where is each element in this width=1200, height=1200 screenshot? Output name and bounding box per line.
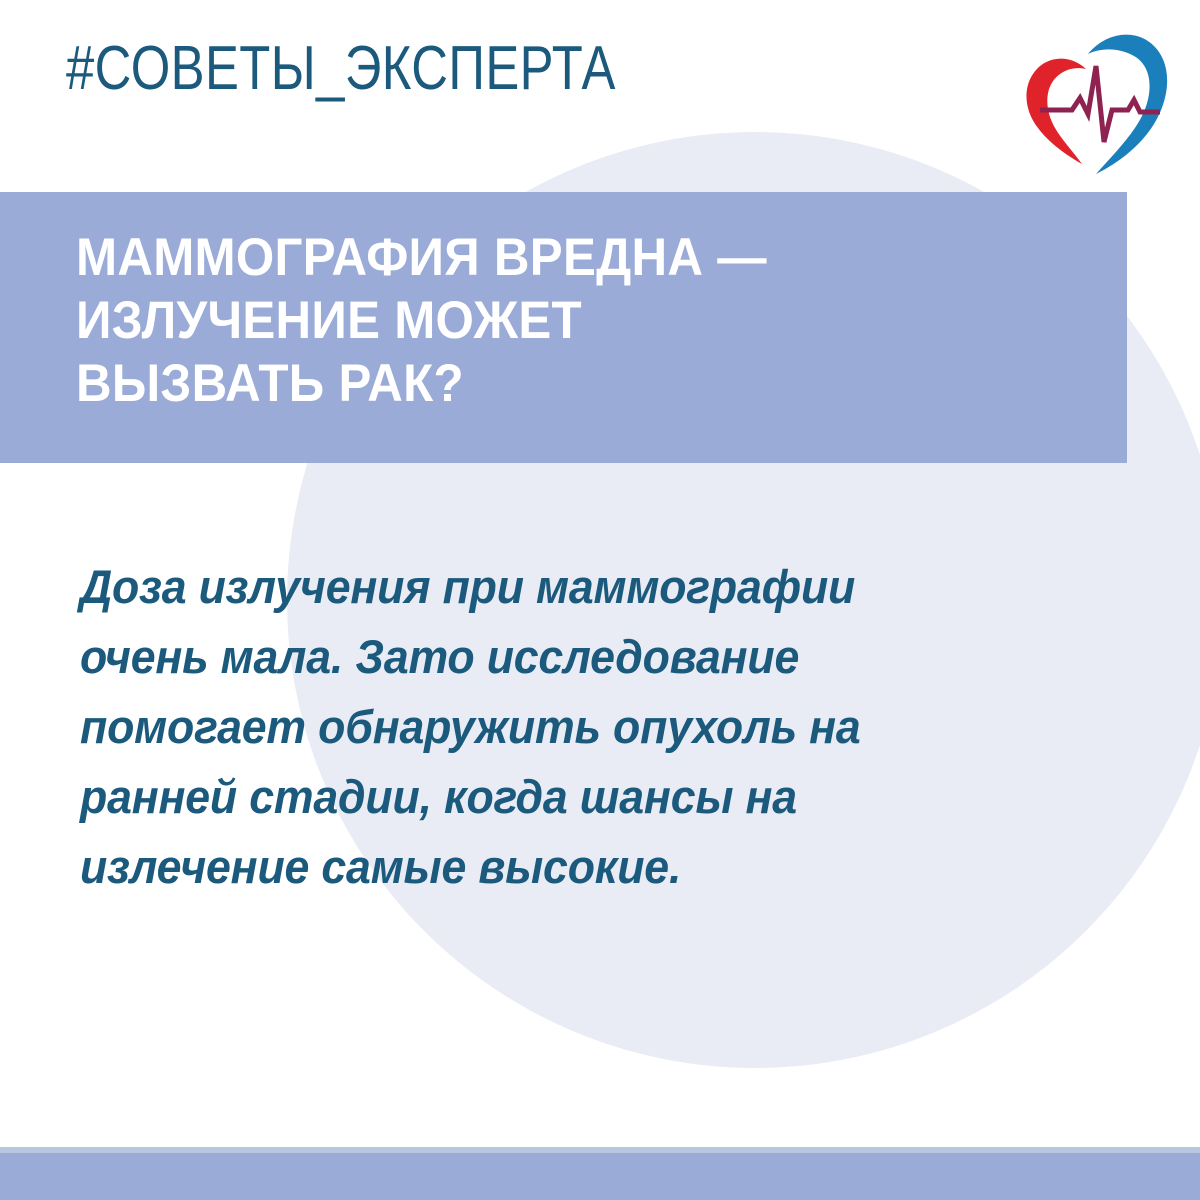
heart-ecg-logo [1010, 14, 1182, 179]
hashtag-label: #СОВЕТЫ_ЭКСПЕРТА [66, 36, 616, 101]
footer-bar [0, 1153, 1200, 1200]
slide-canvas: #СОВЕТЫ_ЭКСПЕРТА МАММОГРАФИЯ ВРЕДНА — ИЗ… [0, 0, 1200, 1200]
title-banner: МАММОГРАФИЯ ВРЕДНА — ИЗЛУЧЕНИЕ МОЖЕТ ВЫЗ… [0, 192, 1127, 463]
body-paragraph: Доза излучения при маммографии очень мал… [80, 552, 992, 902]
page-title: МАММОГРАФИЯ ВРЕДНА — ИЗЛУЧЕНИЕ МОЖЕТ ВЫЗ… [76, 226, 1053, 415]
